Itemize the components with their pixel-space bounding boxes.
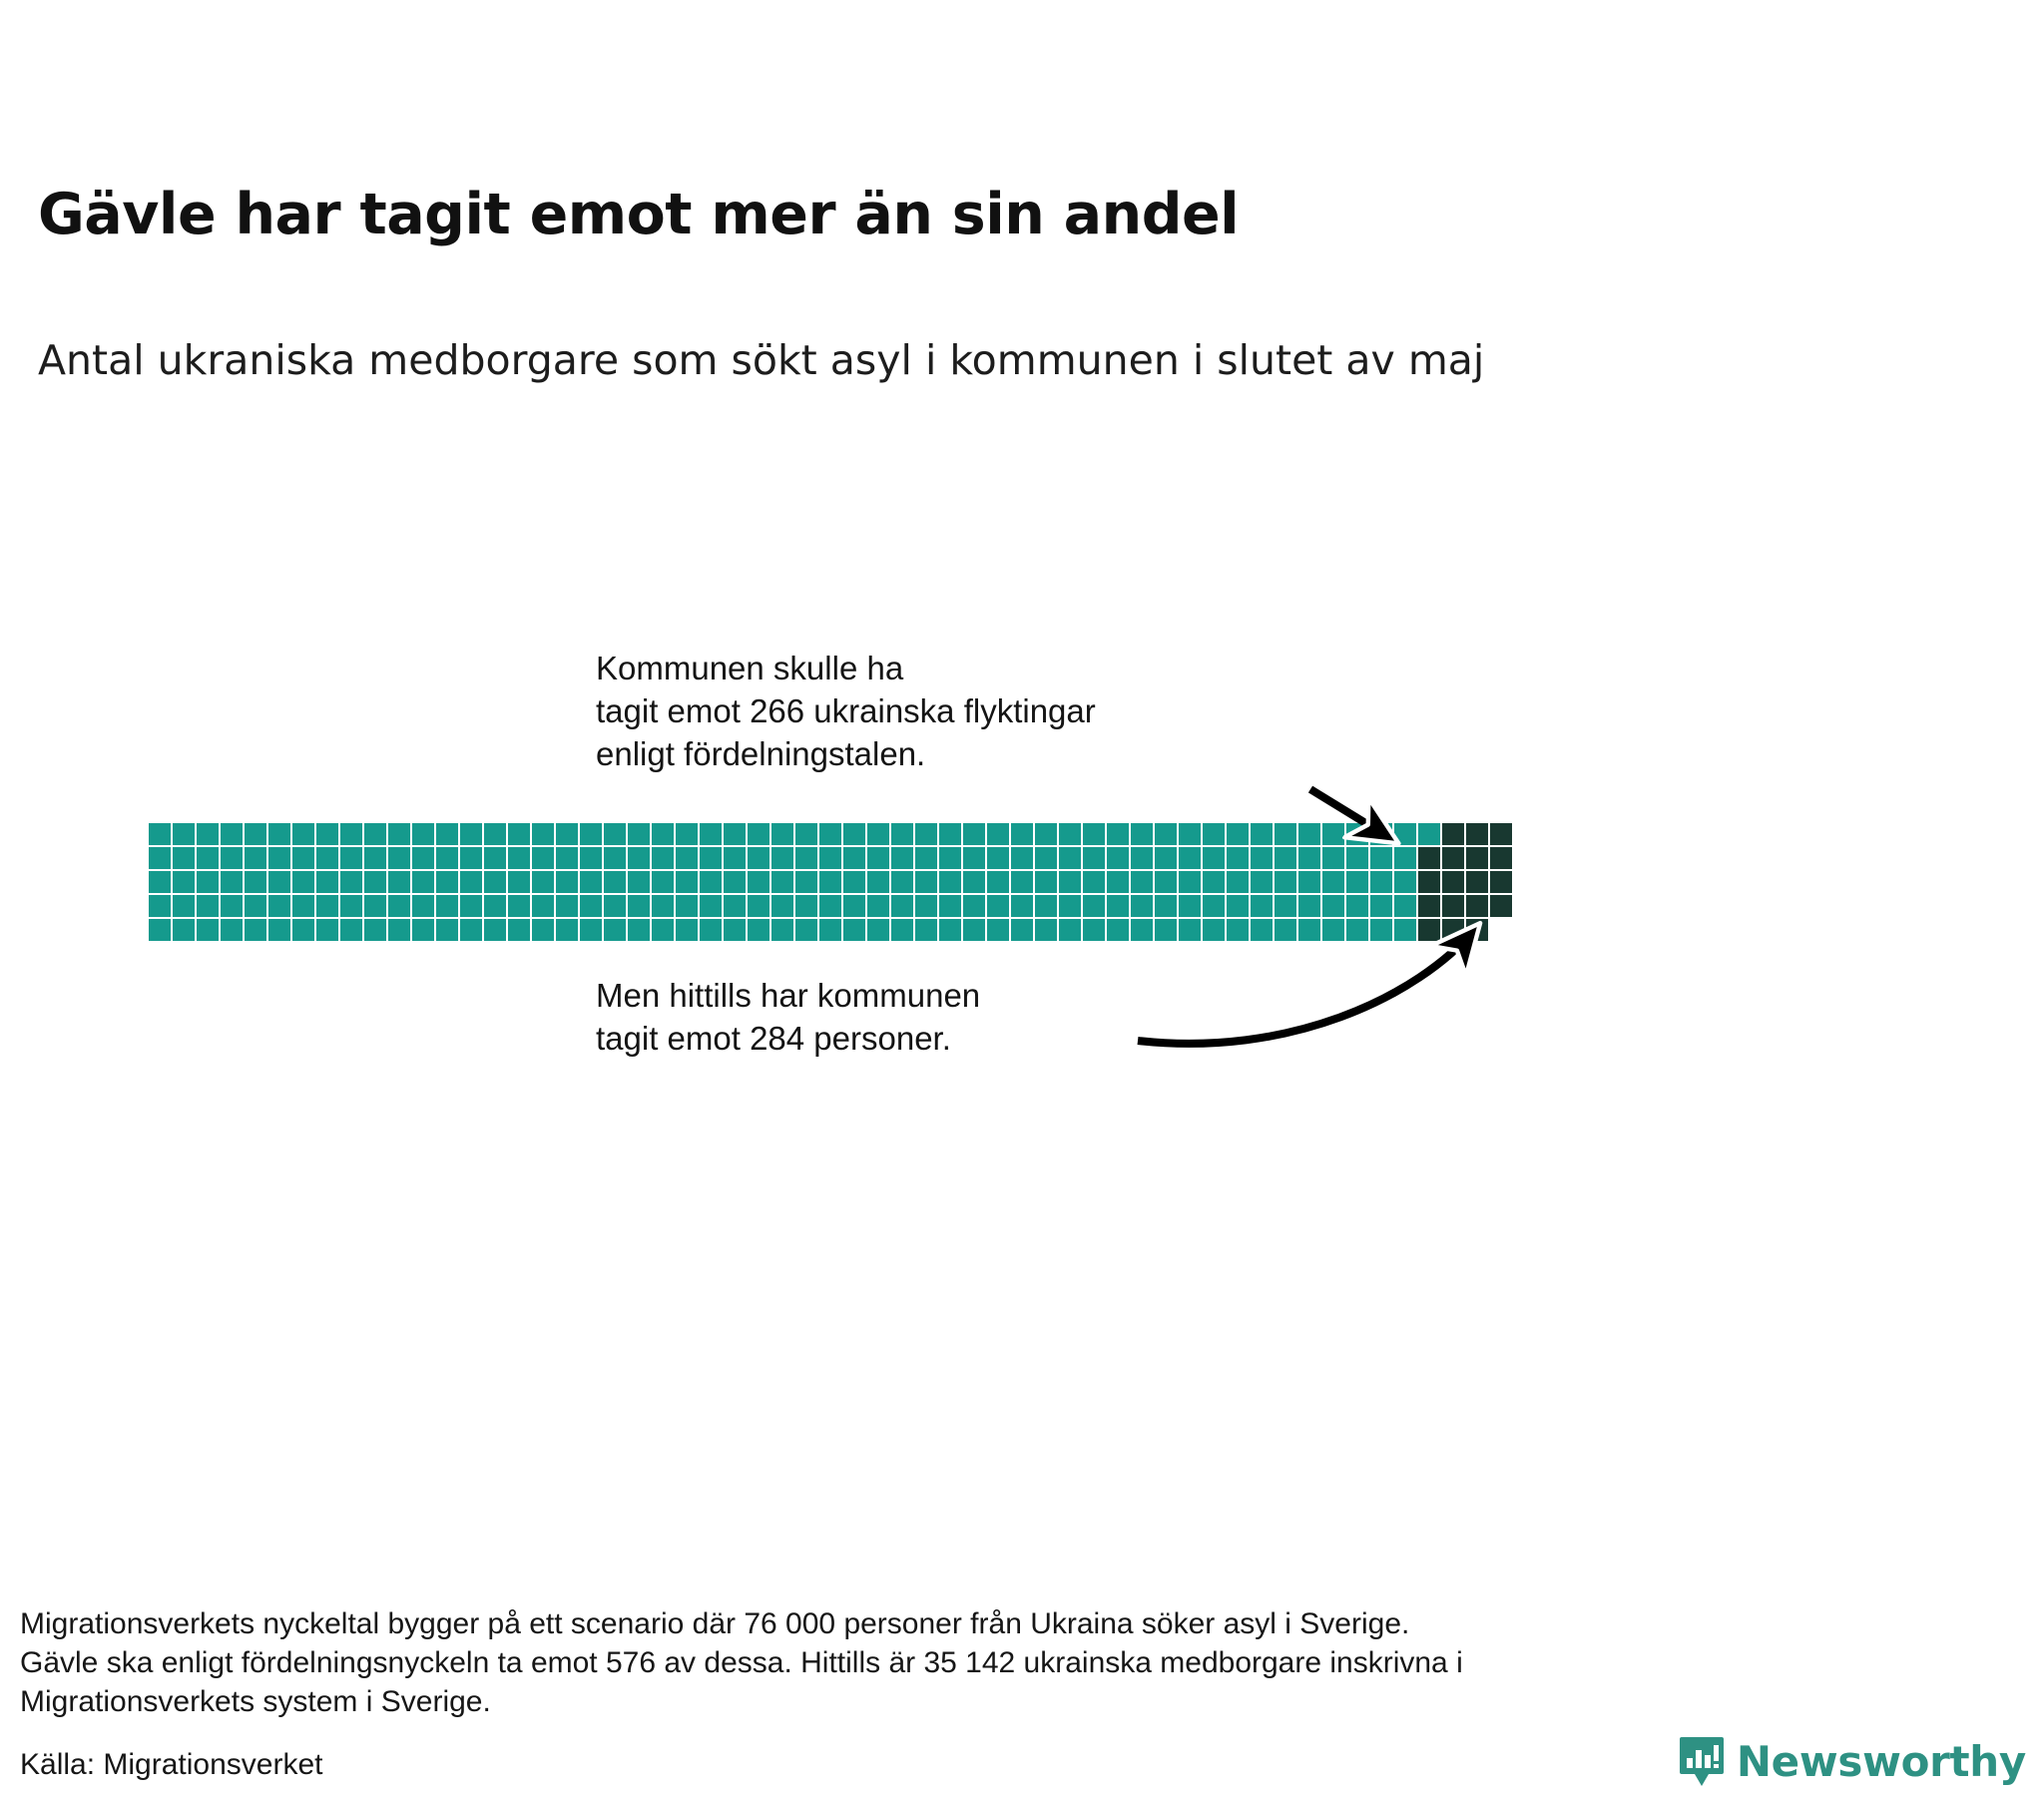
waffle-cell [843,847,865,869]
waffle-cell [1227,919,1249,941]
waffle-cell [1275,871,1296,893]
waffle-cell [508,847,530,869]
waffle-cell [939,823,961,845]
annotation-quota-label: Kommunen skulle ha tagit emot 266 ukrain… [596,647,1096,775]
waffle-cell [1107,847,1129,869]
waffle-cell [867,823,889,845]
waffle-cell [1059,823,1081,845]
waffle-cell [1131,919,1153,941]
waffle-cell [292,823,314,845]
waffle-cell [1011,895,1033,917]
waffle-cell [412,823,434,845]
waffle-cell [915,919,937,941]
waffle-cell [1394,895,1416,917]
waffle-cell [340,871,362,893]
waffle-cell [1442,895,1464,917]
waffle-cell [388,823,410,845]
waffle-cell [1322,823,1344,845]
footnote-text: Migrationsverkets nyckeltal bygger på et… [20,1604,1976,1721]
waffle-cell [1275,895,1296,917]
waffle-cell [1011,919,1033,941]
waffle-cell [484,895,506,917]
waffle-cell [771,919,793,941]
waffle-cell [412,847,434,869]
waffle-cell [1394,823,1416,845]
waffle-cell [1442,871,1464,893]
waffle-cell [1107,919,1129,941]
waffle-cell [939,895,961,917]
waffle-cell [460,895,482,917]
page-title: Gävle har tagit emot mer än sin andel [38,182,1239,247]
waffle-cell [891,919,913,941]
waffle-cell [724,823,746,845]
waffle-cell [1275,847,1296,869]
waffle-cell [1203,871,1225,893]
waffle-cell [292,919,314,941]
waffle-cell [197,895,219,917]
waffle-cell [795,847,817,869]
waffle-cell [628,847,650,869]
waffle-cell [1466,895,1488,917]
waffle-cell [1370,847,1392,869]
annotation-actual-label: Men hittills har kommunen tagit emot 284… [596,974,980,1060]
waffle-cell [963,871,985,893]
waffle-cell [460,871,482,893]
waffle-cell [676,823,698,845]
waffle-cell [652,919,674,941]
waffle-cell [1155,895,1177,917]
waffle-cell [1490,895,1512,917]
waffle-cell [700,895,722,917]
waffle-cell [891,847,913,869]
waffle-cell [1346,871,1368,893]
waffle-cell [580,919,602,941]
waffle-cell [149,847,171,869]
waffle-cell [532,847,554,869]
waffle-cell [771,847,793,869]
waffle-cell [652,823,674,845]
waffle-cell [1466,919,1488,941]
waffle-cell [963,919,985,941]
waffle-cell [197,823,219,845]
waffle-cell [580,823,602,845]
waffle-cell [1155,823,1177,845]
waffle-cell [604,895,626,917]
waffle-cell [1155,919,1177,941]
waffle-cell [963,847,985,869]
waffle-cell [484,847,506,869]
waffle-cell [819,919,841,941]
waffle-cell [1418,895,1440,917]
waffle-cell [676,895,698,917]
waffle-cell [292,847,314,869]
waffle-cell [316,895,338,917]
waffle-cell [364,823,386,845]
waffle-cell [939,871,961,893]
waffle-cell [436,871,458,893]
waffle-cell [867,919,889,941]
waffle-cell [1083,895,1105,917]
waffle-cell [1179,919,1201,941]
waffle-cell [819,895,841,917]
waffle-cell [1035,919,1057,941]
waffle-cell [700,823,722,845]
waffle-cell [795,823,817,845]
waffle-cell [628,823,650,845]
waffle-cell [915,895,937,917]
waffle-cell [245,895,266,917]
waffle-cell [843,895,865,917]
waffle-cell [1059,871,1081,893]
waffle-cell [1442,823,1464,845]
waffle-cell [149,871,171,893]
waffle-cell [1083,847,1105,869]
waffle-cell [388,919,410,941]
waffle-cell [724,919,746,941]
waffle-cell [340,895,362,917]
waffle-cell [1011,871,1033,893]
waffle-cell [173,823,195,845]
waffle-cell [1418,847,1440,869]
waffle-cell [1203,919,1225,941]
waffle-cell [460,823,482,845]
waffle-cell [292,871,314,893]
waffle-cell [1442,919,1464,941]
waffle-cell [364,871,386,893]
waffle-cell [1442,847,1464,869]
waffle-cell [867,847,889,869]
waffle-cell [1298,919,1320,941]
waffle-cell [795,871,817,893]
waffle-cell [580,847,602,869]
waffle-cell [149,895,171,917]
waffle-cell [1035,895,1057,917]
waffle-cell [676,919,698,941]
waffle-cell [460,847,482,869]
waffle-cell [268,871,290,893]
waffle-cell [987,919,1009,941]
waffle-cell [173,895,195,917]
waffle-cell [245,847,266,869]
waffle-cell [221,847,243,869]
waffle-cell [1346,823,1368,845]
waffle-cell [676,871,698,893]
waffle-cell [700,871,722,893]
waffle-cell [1059,895,1081,917]
waffle-cell [364,919,386,941]
waffle-cell [484,871,506,893]
waffle-cell [1418,919,1440,941]
waffle-cell [1179,823,1201,845]
waffle-cell [245,871,266,893]
waffle-cell [987,823,1009,845]
waffle-cell [1011,847,1033,869]
waffle-cell [292,895,314,917]
waffle-cell [891,895,913,917]
waffle-chart [0,0,2044,1796]
waffle-cell [915,871,937,893]
waffle-cell [724,847,746,869]
waffle-cell [580,895,602,917]
waffle-cell [1346,895,1368,917]
waffle-cell [556,823,578,845]
waffle-cell [1370,823,1392,845]
waffle-cell [1155,871,1177,893]
waffle-cell [915,823,937,845]
waffle-cell [1466,847,1488,869]
waffle-cell [268,895,290,917]
waffle-cell [1298,823,1320,845]
waffle-cell [628,919,650,941]
waffle-cell [1107,871,1129,893]
waffle-cell [245,919,266,941]
waffle-cell [1490,823,1512,845]
waffle-cell [891,823,913,845]
waffle-cell [1035,871,1057,893]
waffle-cell [1083,823,1105,845]
waffle-cell [1083,919,1105,941]
arrow-to-actual-cell [1138,928,1476,1044]
newsworthy-wordmark: Newsworthy [1737,1741,2026,1783]
waffle-cell [1035,847,1057,869]
waffle-cell [963,895,985,917]
waffle-cell [1322,895,1344,917]
waffle-cell [676,847,698,869]
waffle-cell [436,895,458,917]
waffle-cell [173,919,195,941]
waffle-cell [604,919,626,941]
waffle-cell [1370,871,1392,893]
waffle-cell [556,871,578,893]
newsworthy-bar-chart-icon [1679,1736,1725,1788]
waffle-cell [221,895,243,917]
waffle-cell [1370,919,1392,941]
waffle-cell [508,895,530,917]
waffle-cell [1466,871,1488,893]
waffle-cell [819,823,841,845]
waffle-cell [268,847,290,869]
waffle-cell [963,823,985,845]
waffle-cell [987,847,1009,869]
waffle-cell [508,823,530,845]
waffle-cell [1179,871,1201,893]
waffle-cell [316,919,338,941]
waffle-cell [1179,847,1201,869]
waffle-cell [1131,823,1153,845]
waffle-cell [843,919,865,941]
waffle-cell [1107,895,1129,917]
waffle-cell [1346,847,1368,869]
waffle-cell [1322,919,1344,941]
waffle-cell [1275,823,1296,845]
waffle-cell [1203,823,1225,845]
waffle-cell [748,871,769,893]
waffle-cell [1418,871,1440,893]
waffle-cell [1131,871,1153,893]
waffle-cell [221,823,243,845]
waffle-cell [1346,919,1368,941]
chart-subtitle: Antal ukraniska medborgare som sökt asyl… [38,336,1484,384]
waffle-cell [819,847,841,869]
waffle-cell [795,895,817,917]
waffle-cell [436,823,458,845]
waffle-cell [1059,847,1081,869]
waffle-cell [1251,847,1273,869]
waffle-cell [1083,871,1105,893]
waffle-cell [604,871,626,893]
waffle-cell [1131,895,1153,917]
waffle-cell [1418,823,1440,845]
waffle-cell [1298,871,1320,893]
waffle-cell [1394,847,1416,869]
waffle-cell [748,919,769,941]
waffle-cell [221,871,243,893]
waffle-cell [1227,847,1249,869]
waffle-cell [771,823,793,845]
waffle-cell [316,847,338,869]
waffle-cell [364,847,386,869]
waffle-cell [604,847,626,869]
waffle-cell [1131,847,1153,869]
waffle-cell [340,847,362,869]
waffle-cell [245,823,266,845]
waffle-cell [748,847,769,869]
waffle-cell [939,919,961,941]
waffle-cell [460,919,482,941]
waffle-cell [268,919,290,941]
waffle-cell [149,823,171,845]
waffle-cell [1203,895,1225,917]
waffle-cell [987,871,1009,893]
waffle-cell [1227,823,1249,845]
waffle-cell [628,871,650,893]
waffle-cell [508,871,530,893]
waffle-cell [1179,895,1201,917]
waffle-cell [1490,871,1512,893]
waffle-cell [1059,919,1081,941]
waffle-cell [412,871,434,893]
waffle-cell [604,823,626,845]
waffle-cell [1107,823,1129,845]
waffle-cell [556,847,578,869]
waffle-cell [268,823,290,845]
waffle-cell [915,847,937,869]
waffle-cell [532,895,554,917]
waffle-cell [556,919,578,941]
waffle-cell [1298,895,1320,917]
waffle-cell [556,895,578,917]
waffle-cell [508,919,530,941]
waffle-cell [412,919,434,941]
waffle-cell [1251,919,1273,941]
waffle-cell [340,919,362,941]
waffle-cell [197,919,219,941]
waffle-cell [388,847,410,869]
waffle-cell [484,919,506,941]
waffle-cell [316,871,338,893]
waffle-cell [1490,847,1512,869]
waffle-cell [1370,895,1392,917]
waffle-cell [1011,823,1033,845]
waffle-cell [724,895,746,917]
waffle-cell [1275,919,1296,941]
waffle-cell [1155,847,1177,869]
waffle-cell [652,847,674,869]
waffle-cell [1251,823,1273,845]
waffle-cell [771,871,793,893]
waffle-cell [1203,847,1225,869]
waffle-cell [1466,823,1488,845]
waffle-cell [748,895,769,917]
waffle-cell [197,871,219,893]
waffle-cell [316,823,338,845]
waffle-cell [1251,895,1273,917]
waffle-cell [795,919,817,941]
waffle-cell [1322,847,1344,869]
waffle-cell [1227,871,1249,893]
waffle-cell [412,895,434,917]
waffle-cell [867,895,889,917]
waffle-cell [771,895,793,917]
waffle-cell [748,823,769,845]
waffle-cell [843,823,865,845]
waffle-cell [580,871,602,893]
waffle-cell [1298,847,1320,869]
newsworthy-logo[interactable]: Newsworthy [1679,1736,2026,1788]
waffle-cell [436,919,458,941]
waffle-cell [1035,823,1057,845]
waffle-cell [628,895,650,917]
waffle-cell [532,823,554,845]
waffle-grid [149,823,1512,941]
waffle-cell [173,847,195,869]
waffle-cell [652,871,674,893]
waffle-cell [532,871,554,893]
waffle-cell [843,871,865,893]
waffle-cell [149,919,171,941]
waffle-cell [700,847,722,869]
waffle-cell [891,871,913,893]
waffle-cell [1394,871,1416,893]
waffle-cell [1394,919,1416,941]
waffle-cell [484,823,506,845]
waffle-cell [1227,895,1249,917]
waffle-cell [388,895,410,917]
waffle-cell [987,895,1009,917]
waffle-cell [819,871,841,893]
waffle-cell [436,847,458,869]
waffle-cell [388,871,410,893]
waffle-cell [867,871,889,893]
waffle-cell [197,847,219,869]
waffle-cell [364,895,386,917]
waffle-cell [340,823,362,845]
waffle-cell [1251,871,1273,893]
waffle-cell [173,871,195,893]
waffle-cell [939,847,961,869]
waffle-cell [1322,871,1344,893]
waffle-cell [652,895,674,917]
waffle-cell [700,919,722,941]
waffle-cell [724,871,746,893]
source-label: Källa: Migrationsverket [20,1748,322,1782]
waffle-cell [221,919,243,941]
waffle-cell [532,919,554,941]
